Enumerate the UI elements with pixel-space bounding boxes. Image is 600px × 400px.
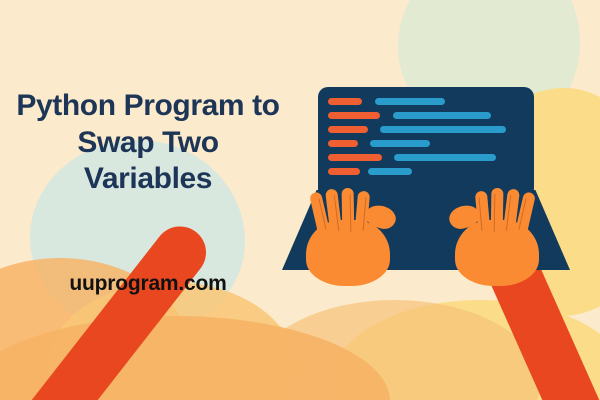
page-title-line-3: Variables <box>0 161 296 198</box>
laptop-screen <box>318 87 534 192</box>
code-value-bar <box>375 98 445 105</box>
code-keyword-bar <box>328 154 382 161</box>
page-title-line-1: Python Program to <box>0 88 296 125</box>
code-keyword-bar <box>328 126 368 133</box>
code-keyword-bar <box>328 168 360 175</box>
code-line <box>318 168 534 175</box>
code-value-bar <box>380 126 506 133</box>
poster-canvas: Python Program to Swap Two Variables uup… <box>0 0 600 400</box>
code-keyword-bar <box>328 140 358 147</box>
left-hand <box>300 192 420 288</box>
code-value-bar <box>394 154 496 161</box>
code-line <box>318 112 534 119</box>
page-title: Python Program to Swap Two Variables <box>0 88 296 198</box>
code-keyword-bar <box>328 98 362 105</box>
code-line <box>318 98 534 105</box>
code-line <box>318 154 534 161</box>
code-value-bar <box>370 140 430 147</box>
code-line <box>318 140 534 147</box>
laptop-illustration <box>0 0 600 400</box>
code-line <box>318 126 534 133</box>
page-title-line-2: Swap Two <box>0 125 296 162</box>
right-hand <box>425 192 545 288</box>
code-value-bar <box>368 168 412 175</box>
code-keyword-bar <box>328 112 380 119</box>
site-url-label: uuprogram.com <box>0 272 296 296</box>
code-value-bar <box>393 112 491 119</box>
